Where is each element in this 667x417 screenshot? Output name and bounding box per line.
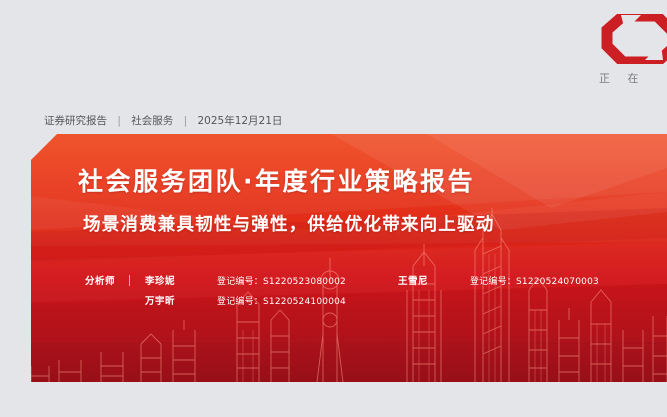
analyst-row: 分析师 李珍妮 登记编号：S1220523080002 王雪尼 登记编号：S12… [85, 270, 599, 290]
analyst-row: 万宇昕 登记编号：S1220524100004 [85, 290, 599, 310]
cover-banner: 社会服务团队·年度行业策略报告 场景消费兼具韧性与弹性，供给优化带来向上驱动 分… [31, 134, 667, 382]
registration-label: 登记编号： [217, 297, 263, 307]
analyst-divider [129, 275, 130, 286]
registration-number: S1220524100004 [263, 297, 346, 307]
breadcrumb-separator: | [110, 115, 128, 127]
breadcrumb-item-sector: 社会服务 [131, 115, 173, 127]
analyst-list: 分析师 李珍妮 登记编号：S1220523080002 王雪尼 登记编号：S12… [85, 270, 599, 310]
company-logo-hexagon-icon [601, 14, 667, 64]
analyst-name: 万宇昕 [145, 293, 217, 307]
analyst-registration: 登记编号：S1220523080002 [217, 274, 346, 287]
breadcrumb-separator: | [177, 115, 195, 127]
registration-label: 登记编号： [470, 277, 516, 287]
analyst-divider-spacer [129, 295, 130, 306]
report-cover-page: 正 在 证券研究报告 | 社会服务 | 2025年12月21日 [0, 0, 667, 417]
company-logo: 正 在 [589, 14, 667, 96]
company-wordmark: 正 在 [599, 70, 667, 86]
breadcrumb-item-report-type: 证券研究报告 [44, 115, 107, 127]
analyst-label: 分析师 [85, 273, 129, 287]
report-title: 社会服务团队·年度行业策略报告 [78, 162, 475, 198]
analyst-name: 李珍妮 [145, 273, 217, 287]
registration-label: 登记编号： [217, 277, 263, 287]
breadcrumb: 证券研究报告 | 社会服务 | 2025年12月21日 [44, 113, 282, 128]
analyst-name: 王雪尼 [398, 273, 470, 287]
breadcrumb-item-date: 2025年12月21日 [197, 115, 282, 127]
analyst-registration: 登记编号：S1220524070003 [470, 274, 599, 287]
registration-number: S1220523080002 [263, 277, 346, 287]
analyst-registration: 登记编号：S1220524100004 [217, 294, 346, 307]
report-subtitle: 场景消费兼具韧性与弹性，供给优化带来向上驱动 [83, 211, 494, 236]
registration-number: S1220524070003 [516, 277, 599, 287]
